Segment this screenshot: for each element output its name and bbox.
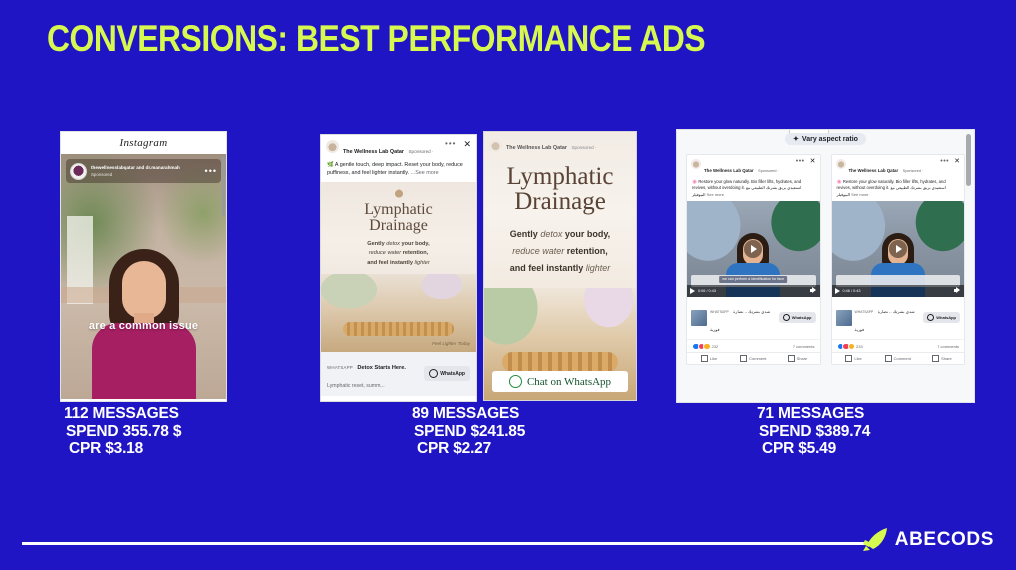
preview-post-left[interactable]: The Wellness Lab Qatar Sponsored · ••• ✕…	[686, 154, 821, 365]
action-bar: Like Comment Share	[687, 352, 820, 364]
bsub2a: reduce water	[512, 246, 564, 256]
whatsapp-button-label: WhatsApp	[440, 371, 465, 377]
ad-card-ads-manager[interactable]: ✦ Vary aspect ratio The Wellness Lab Qat…	[676, 129, 975, 403]
spend-2: SPEND $241.85	[412, 423, 525, 441]
cta-text: WHATSAPP شدي بشرتِك .. نضارة فورية	[855, 300, 921, 336]
see-more-link[interactable]: See more	[851, 192, 868, 197]
reaction-count: 232	[712, 344, 719, 349]
cta-description: Lymphatic reset, summ...	[327, 383, 385, 389]
face-shape	[122, 261, 166, 319]
comment-count[interactable]: 3 comments	[419, 401, 446, 402]
page-name: The Wellness Lab Qatar	[343, 149, 404, 155]
cta-thumbnail	[836, 310, 852, 326]
like-label: Like	[710, 356, 717, 361]
comment-bubble-icon	[740, 355, 747, 362]
instagram-post-header: thewellnesslabqatar and dr.manarahmah Sp…	[66, 159, 221, 183]
messages-count-1: 112 MESSAGES	[64, 405, 181, 423]
preview-grid: The Wellness Lab Qatar Sponsored · ••• ✕…	[677, 148, 974, 365]
slide-root: CONVERSIONS: BEST PERFORMANCE ADS Instag…	[0, 0, 1016, 570]
care-reaction-icon	[703, 343, 711, 351]
cta-label: WHATSAPP	[327, 365, 353, 370]
play-button[interactable]	[744, 240, 762, 258]
sub3b: lighter	[415, 260, 430, 266]
creative-subcopy-line2: reduce water retention,	[321, 249, 476, 259]
whatsapp-button[interactable]: WhatsApp	[779, 312, 816, 323]
more-options-icon[interactable]: •••	[940, 159, 949, 165]
whatsapp-button[interactable]: WhatsApp	[424, 366, 470, 381]
speaker-icon[interactable]	[810, 287, 817, 294]
cta-text: WHATSAPP Detox Starts Here. Lymphatic re…	[327, 356, 420, 392]
stats-right: 7 comments	[937, 344, 959, 349]
spend-1: SPEND 355.78 $	[64, 423, 181, 441]
creative-subcopy-line3: and feel instantly lighter	[321, 259, 476, 269]
thumbs-up-icon	[701, 355, 708, 362]
reaction-icons	[837, 343, 854, 351]
cta-title: Detox Starts Here.	[357, 365, 406, 371]
sub1b: detox	[386, 241, 400, 247]
page-names: The Wellness Lab Qatar Sponsored ·	[506, 136, 627, 154]
creative-photo: Feel Lighter Today	[321, 274, 476, 352]
share-arrow-icon	[788, 355, 795, 362]
share-label: Share	[797, 356, 808, 361]
more-options-icon[interactable]: •••	[445, 140, 456, 147]
care-reaction-icon	[848, 343, 856, 351]
spend-3: SPEND $389.74	[757, 423, 870, 441]
more-options-icon[interactable]: •••	[205, 168, 217, 174]
like-button[interactable]: Like	[687, 355, 731, 362]
share-button[interactable]: Share	[775, 355, 819, 362]
love-reaction-icon	[334, 400, 343, 402]
wood-roller-shape	[502, 352, 618, 372]
engagement-stats: 232 7 comments	[687, 339, 820, 353]
speaker-icon[interactable]	[954, 287, 961, 294]
sub2a: reduce water	[369, 250, 401, 256]
video-timestamp: 0:06 / 0:43	[698, 289, 716, 293]
stats-right: 3 comments 2 shares	[419, 401, 470, 402]
preview-toolbar: ✦ Vary aspect ratio	[677, 130, 974, 148]
creative-image[interactable]: Lymphatic Drainage Gently detox your bod…	[321, 182, 476, 352]
enlarged-subcopy-line3: and feel instantly lighter	[484, 260, 636, 277]
creative-headline-line2: Drainage	[321, 218, 476, 235]
cta-block[interactable]: WHATSAPP شدي بشرتِك .. نضارة فورية Whats…	[832, 297, 965, 339]
share-button[interactable]: Share	[920, 355, 964, 362]
page-avatar	[691, 159, 701, 169]
reaction-icons	[692, 343, 709, 351]
page-name: The Wellness Lab Qatar	[849, 168, 899, 173]
metrics-card-1: 112 MESSAGES SPEND 355.78 $ CPR $3.18	[64, 405, 181, 458]
enlarged-headline-line1: Lymphatic	[484, 164, 636, 189]
ad-card-instagram[interactable]: Instagram thewellnesslabqatar and dr.man…	[60, 131, 227, 402]
account-username: thewellnesslabqatar and dr.manarahmah	[91, 165, 201, 170]
torso-shape	[92, 323, 196, 399]
whatsapp-button-label: WhatsApp	[792, 315, 812, 320]
sponsored-label: Sponsored	[91, 172, 201, 177]
creative-subcopy: Gently detox your body, reduce water ret…	[321, 240, 476, 269]
cta-text: WHATSAPP شدي بشرتِك .. نضارة فورية	[710, 300, 776, 336]
brand-logo: ABECODS	[862, 527, 994, 553]
whatsapp-icon	[509, 375, 522, 388]
page-avatar	[836, 159, 846, 169]
reaction-icons	[327, 400, 341, 402]
post-body-text: 🌿 A gentle touch, deep impact. Reset you…	[321, 160, 476, 182]
thumbs-up-icon	[845, 355, 852, 362]
whatsapp-icon	[429, 369, 438, 378]
bsub3b: lighter	[586, 263, 611, 273]
instagram-wordmark: Instagram	[120, 137, 168, 149]
footer-divider	[22, 542, 867, 545]
share-count[interactable]: 2 shares	[451, 401, 470, 402]
whatsapp-icon	[927, 314, 934, 321]
chat-on-whatsapp-label: Chat on WhatsApp	[527, 376, 611, 388]
cta-label: WHATSAPP	[855, 310, 874, 314]
video-controls-bar[interactable]: 0:06 / 0:43	[687, 285, 820, 297]
scrollbar-thumb[interactable]	[222, 156, 225, 216]
bsub3a: and feel instantly	[510, 263, 586, 273]
page-avatar	[489, 139, 502, 152]
avatar	[70, 163, 87, 180]
creative-subcopy-line1: Gently detox your body,	[321, 240, 476, 250]
ad-card-facebook-post[interactable]: The Wellness Lab Qatar Sponsored · ••• ✕…	[320, 134, 477, 402]
cta-block[interactable]: WHATSAPP Detox Starts Here. Lymphatic re…	[321, 352, 476, 396]
brand-name: ABECODS	[895, 529, 994, 551]
creative-header: The Wellness Lab Qatar Sponsored ·	[484, 132, 636, 158]
post-header: The Wellness Lab Qatar Sponsored · ••• ✕	[321, 135, 476, 160]
page-title: CONVERSIONS: BEST PERFORMANCE ADS	[47, 18, 705, 60]
reaction-count: 233	[856, 344, 863, 349]
action-bar: Like Comment Share	[832, 352, 965, 364]
creative-headline-line1: Lymphatic	[321, 202, 476, 219]
cta-block[interactable]: WHATSAPP شدي بشرتِك .. نضارة فورية Whats…	[687, 297, 820, 339]
play-icon[interactable]	[835, 288, 840, 294]
post-header: The Wellness Lab Qatar Sponsored · ••• ✕	[687, 155, 820, 178]
ad-creative-enlarged[interactable]: The Wellness Lab Qatar Sponsored · Lymph…	[483, 131, 637, 401]
wood-roller-shape	[343, 322, 455, 336]
comment-button[interactable]: Comment	[876, 355, 920, 362]
video-subtitle-overlay: we can perform a identification for face	[719, 276, 787, 283]
share-arrow-icon	[932, 355, 939, 362]
enlarged-headline-line2: Drainage	[484, 189, 636, 214]
enlarged-subcopy: Gently detox your body, reduce water ret…	[484, 226, 636, 277]
comment-count[interactable]: 7 comments	[937, 344, 959, 349]
messages-count-3: 71 MESSAGES	[757, 405, 870, 423]
close-icon[interactable]: ✕	[810, 159, 816, 165]
account-names: thewellnesslabqatar and dr.manarahmah Sp…	[91, 165, 201, 176]
cpr-1: CPR $3.18	[64, 440, 181, 458]
sub1a: Gently	[367, 241, 386, 247]
rocket-icon	[862, 527, 888, 553]
play-icon[interactable]	[690, 288, 695, 294]
sponsored-label: Sponsored ·	[903, 169, 924, 173]
vary-aspect-ratio-label: Vary aspect ratio	[802, 136, 858, 143]
brand-logo-mark	[390, 187, 408, 198]
preview-post-right[interactable]: The Wellness Lab Qatar Sponsored · ••• ✕…	[831, 154, 966, 365]
post-body-text: 🌸 Restore your glow naturally. Bio fille…	[687, 178, 820, 201]
sparkle-icon: ✦	[793, 135, 799, 143]
page-name: The Wellness Lab Qatar	[704, 168, 754, 173]
metrics-card-2: 89 MESSAGES SPEND $241.85 CPR $2.27	[412, 405, 525, 458]
chat-on-whatsapp-button[interactable]: Chat on WhatsApp	[492, 371, 628, 392]
more-options-icon[interactable]: •••	[796, 159, 805, 165]
video-player-right[interactable]: 0:46 / 0:43	[832, 201, 965, 297]
share-label: Share	[941, 356, 952, 361]
instagram-media[interactable]: thewellnesslabqatar and dr.manarahmah Sp…	[61, 154, 226, 399]
cta-thumbnail	[691, 310, 707, 326]
enlarged-subcopy-line2: reduce water retention,	[484, 243, 636, 260]
bsub1b: detox	[540, 229, 562, 239]
whatsapp-icon	[783, 314, 790, 321]
reaction-count: 67	[344, 401, 350, 402]
sub3a: and feel instantly	[367, 260, 414, 266]
like-label: Like	[854, 356, 861, 361]
metrics-card-3: 71 MESSAGES SPEND $389.74 CPR $5.49	[757, 405, 870, 458]
bsub1a: Gently	[510, 229, 541, 239]
see-more-link[interactable]: See more	[707, 192, 724, 197]
comment-button[interactable]: Comment	[731, 355, 775, 362]
sub2b: retention,	[401, 250, 428, 256]
creative-badge: Feel Lighter Today	[432, 341, 470, 346]
sponsored-label: Sponsored ·	[758, 169, 779, 173]
page-avatar	[326, 140, 339, 153]
cpr-2: CPR $2.27	[412, 440, 525, 458]
sub1c: your body,	[400, 241, 430, 247]
enlarged-photo: Chat on WhatsApp	[484, 288, 636, 400]
post-header: The Wellness Lab Qatar Sponsored · ••• ✕	[832, 155, 965, 178]
vary-aspect-ratio-chip[interactable]: ✦ Vary aspect ratio	[785, 133, 866, 145]
post-body-copy: 🌿 A gentle touch, deep impact. Reset you…	[327, 162, 463, 176]
sponsored-label: Sponsored ·	[571, 145, 596, 150]
scrollbar-thumb[interactable]	[966, 134, 971, 186]
post-body-text: 🌸 Restore your glow naturally. Bio fille…	[832, 178, 965, 201]
sponsored-label: Sponsored ·	[408, 149, 433, 154]
engagement-stats: 233 7 comments	[832, 339, 965, 353]
play-button[interactable]	[889, 240, 907, 258]
engagement-stats: 67 3 comments 2 shares	[321, 396, 476, 402]
video-controls-bar[interactable]: 0:46 / 0:43	[832, 285, 965, 297]
enlarged-subcopy-line1: Gently detox your body,	[484, 226, 636, 243]
like-button[interactable]: Like	[832, 355, 876, 362]
cta-label: WHATSAPP	[710, 310, 729, 314]
page-names: The Wellness Lab Qatar Sponsored ·	[704, 159, 793, 177]
video-timestamp: 0:46 / 0:43	[843, 289, 861, 293]
video-caption-overlay: are a common issue	[89, 320, 198, 332]
video-player-left[interactable]: we can perform a identification for face…	[687, 201, 820, 297]
close-icon[interactable]: ✕	[954, 159, 960, 165]
page-names: The Wellness Lab Qatar Sponsored ·	[849, 159, 938, 177]
whatsapp-button-label: WhatsApp	[936, 315, 956, 320]
comment-bubble-icon	[885, 355, 892, 362]
stats-right: 7 comments	[793, 344, 815, 349]
messages-count-2: 89 MESSAGES	[412, 405, 525, 423]
page-names: The Wellness Lab Qatar Sponsored ·	[343, 140, 441, 158]
cpr-3: CPR $5.49	[757, 440, 870, 458]
instagram-topbar: Instagram	[61, 132, 226, 154]
comment-label: Comment	[749, 356, 766, 361]
page-name: The Wellness Lab Qatar	[506, 145, 567, 151]
see-more-link[interactable]: ...See more	[411, 170, 439, 176]
close-icon[interactable]: ✕	[463, 140, 471, 148]
bsub1c: your body,	[562, 229, 610, 239]
comment-count[interactable]: 7 comments	[793, 344, 815, 349]
comment-label: Comment	[894, 356, 911, 361]
bsub2b: retention,	[564, 246, 608, 256]
whatsapp-button[interactable]: WhatsApp	[923, 312, 960, 323]
